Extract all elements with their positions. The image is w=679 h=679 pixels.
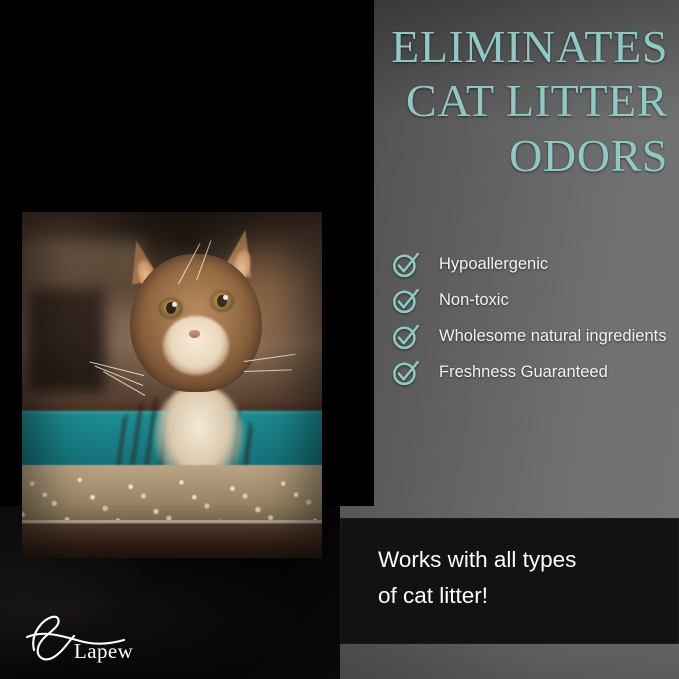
cta-text: Works with all types of cat litter! — [378, 542, 660, 615]
list-item: Wholesome natural ingredients — [392, 324, 678, 351]
check-circle-icon — [392, 323, 420, 351]
headline-line-3: ODORS — [300, 129, 668, 183]
benefits-list: Hypoallergenic Non-toxic Wholesome natur… — [392, 252, 678, 387]
cta-line-1: Works with all types — [378, 542, 660, 578]
list-item: Non-toxic — [392, 288, 678, 315]
check-circle-icon — [392, 251, 420, 279]
product-infographic: ELIMINATES CAT LITTER ODORS Hypoallergen… — [0, 0, 679, 679]
kitten-nose — [189, 330, 200, 338]
benefit-label: Non-toxic — [439, 288, 509, 314]
photo-blur-doorway — [28, 288, 106, 392]
check-circle-icon — [392, 359, 420, 387]
cta-box: Works with all types of cat litter! — [340, 518, 679, 644]
list-item: Hypoallergenic — [392, 252, 678, 279]
litter-box-front-edge — [22, 520, 322, 558]
benefit-label: Hypoallergenic — [439, 252, 548, 278]
page-title: ELIMINATES CAT LITTER ODORS — [300, 20, 668, 183]
benefit-label: Freshness Guaranteed — [439, 360, 608, 386]
brand-wordmark: Lapew — [74, 639, 133, 664]
check-circle-icon — [392, 287, 420, 315]
headline-line-2: CAT LITTER — [300, 74, 668, 128]
litter-pellets — [22, 465, 322, 527]
kitten-left-eye-glint — [172, 302, 177, 307]
kitten-right-eye — [211, 292, 233, 311]
list-item: Freshness Guaranteed — [392, 360, 678, 387]
kitten-right-eye-glint — [223, 295, 228, 300]
headline-line-1: ELIMINATES — [300, 20, 668, 74]
benefit-label: Wholesome natural ingredients — [439, 324, 666, 350]
kitten-muzzle — [163, 316, 229, 375]
kitten-left-eye — [160, 299, 182, 318]
cta-line-2: of cat litter! — [378, 578, 660, 614]
kitten-photo — [22, 212, 322, 558]
brand-logo: Lapew — [22, 606, 162, 668]
